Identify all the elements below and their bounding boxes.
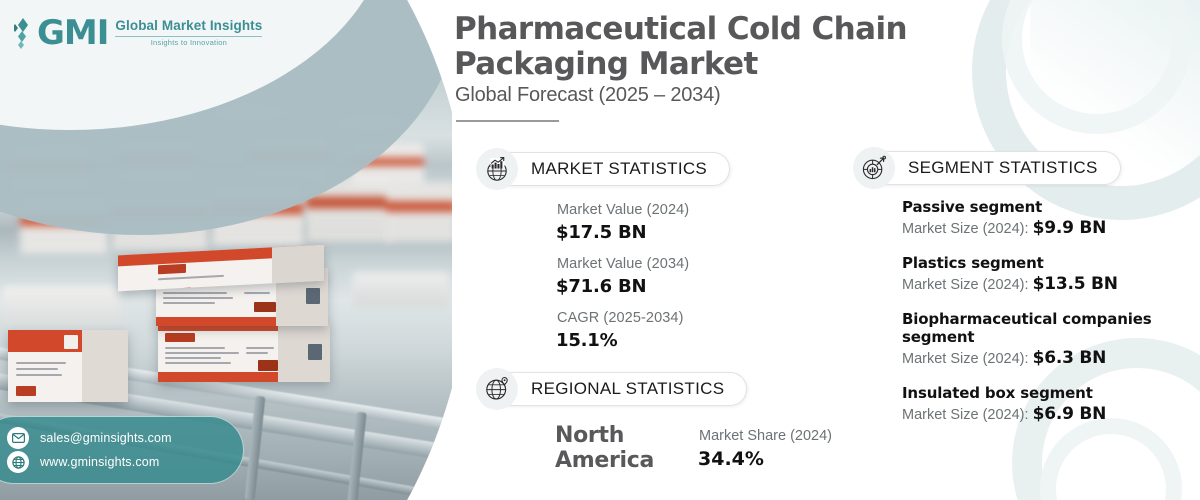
segment-size-row: Market Size (2024): $13.5 BN	[902, 274, 1200, 294]
globe-icon	[7, 451, 29, 473]
segment-size-prefix: Market Size (2024):	[902, 221, 1033, 237]
carton-text-line	[246, 352, 268, 354]
market-statistics-pill: MARKET STATISTICS	[504, 152, 730, 186]
page-subtitle: Global Forecast (2025 – 2034)	[455, 84, 720, 107]
logo-company-name: Global Market Insights	[115, 19, 262, 33]
carton-text-line	[158, 275, 224, 280]
market-value-2034-label: Market Value (2034)	[557, 256, 689, 272]
segment-statistics-pill: SEGMENT STATISTICS	[881, 151, 1121, 185]
segment-statistics-header: SEGMENT STATISTICS	[853, 147, 1121, 189]
carton-text-line	[165, 352, 239, 354]
carton-side-face	[278, 322, 330, 382]
globe-pin-icon	[476, 368, 518, 410]
carton-text-line	[165, 362, 231, 364]
logo-tagline: Insights to Innovation	[115, 39, 262, 47]
market-value-2034-value: $71.6 BN	[556, 276, 646, 297]
list-item: Biopharmaceutical companies segment Mark…	[902, 310, 1200, 369]
segment-size-row: Market Size (2024): $6.3 BN	[902, 348, 1200, 368]
segment-statistics-label: SEGMENT STATISTICS	[908, 158, 1098, 177]
carton-barcode	[306, 288, 320, 304]
foreground-carton-small	[8, 330, 128, 402]
carton-text-line	[16, 374, 62, 376]
logo-abbr: GMI	[37, 16, 108, 50]
carton-label-chip	[64, 335, 78, 349]
segment-size-prefix: Market Size (2024):	[902, 277, 1033, 293]
segment-size-value: $13.5 BN	[1033, 274, 1118, 294]
carton-barcode	[308, 344, 322, 360]
background-carton	[386, 182, 452, 242]
segment-size-prefix: Market Size (2024):	[902, 407, 1033, 423]
envelope-icon	[7, 427, 29, 449]
background-vials	[352, 272, 450, 308]
globe-bar-chart-icon	[476, 148, 518, 190]
page-title: Pharmaceutical Cold Chain Packaging Mark…	[454, 12, 1074, 81]
contact-badge: sales@gminsights.com www.gminsights.com	[0, 416, 244, 484]
leading-region-name: North America	[555, 424, 665, 473]
segment-size-row: Market Size (2024): $9.9 BN	[902, 218, 1200, 238]
background-vials	[2, 286, 120, 328]
carton-text-line	[163, 292, 227, 294]
carton-cold-badge	[254, 302, 276, 312]
segment-name: Biopharmaceutical companies segment	[902, 310, 1200, 348]
segment-list: Passive segment Market Size (2024): $9.9…	[902, 198, 1200, 424]
regional-statistics-header: REGIONAL STATISTICS	[476, 368, 747, 410]
cagr-value: 15.1%	[556, 330, 617, 351]
market-statistics-header: MARKET STATISTICS	[476, 148, 730, 190]
carton-text-line	[16, 368, 58, 370]
carton-side-face	[272, 245, 324, 284]
segment-size-value: $6.3 BN	[1033, 348, 1107, 368]
carton-text-line	[163, 297, 233, 299]
regional-statistics-label: REGIONAL STATISTICS	[531, 379, 724, 398]
logo-divider	[115, 36, 262, 37]
logo-wordmark: Global Market Insights Insights to Innov…	[115, 19, 262, 47]
segment-size-row: Market Size (2024): $6.9 BN	[902, 404, 1200, 424]
contact-website-row[interactable]: www.gminsights.com	[7, 450, 233, 474]
carton-text-line	[16, 362, 66, 364]
hero-image-panel: sales@gminsights.com www.gminsights.com	[0, 0, 452, 500]
carton-text-line	[246, 347, 274, 349]
carton-side-face	[82, 330, 128, 402]
market-share-value: 34.4%	[698, 448, 764, 470]
carton-text-line	[244, 292, 270, 294]
segment-size-value: $9.9 BN	[1033, 218, 1107, 238]
list-item: Passive segment Market Size (2024): $9.9…	[902, 198, 1200, 238]
gmi-diamond-logo-icon	[14, 16, 32, 50]
content-area: Pharmaceutical Cold Chain Packaging Mark…	[452, 0, 1200, 500]
infographic-root: sales@gminsights.com www.gminsights.com	[0, 0, 1200, 500]
donut-chart-arrow-icon	[853, 147, 895, 189]
contact-email-row[interactable]: sales@gminsights.com	[7, 426, 233, 450]
contact-website-text: www.gminsights.com	[40, 455, 159, 469]
segment-name: Plastics segment	[902, 254, 1200, 273]
market-share-label: Market Share (2024)	[699, 428, 832, 444]
market-value-2024-value: $17.5 BN	[556, 222, 646, 243]
carton-label-chip	[165, 333, 195, 342]
contact-email-text: sales@gminsights.com	[40, 431, 172, 445]
foreground-carton	[158, 322, 330, 382]
cagr-label: CAGR (2025-2034)	[557, 310, 684, 326]
regional-statistics-pill: REGIONAL STATISTICS	[504, 372, 747, 406]
list-item: Insulated box segment Market Size (2024)…	[902, 384, 1200, 424]
carton-text-line	[165, 347, 225, 349]
segment-size-prefix: Market Size (2024):	[902, 351, 1033, 367]
carton-text-line	[163, 302, 215, 304]
segment-name: Insulated box segment	[902, 384, 1200, 403]
market-value-2024-label: Market Value (2024)	[557, 202, 689, 218]
carton-cold-badge	[16, 386, 36, 396]
segment-name: Passive segment	[902, 198, 1200, 217]
title-divider	[456, 120, 559, 122]
list-item: Plastics segment Market Size (2024): $13…	[902, 254, 1200, 294]
carton-text-line	[165, 357, 221, 359]
brand-logo[interactable]: GMI Global Market Insights Insights to I…	[14, 16, 262, 50]
segment-size-value: $6.9 BN	[1033, 404, 1107, 424]
carton-cold-badge	[258, 360, 278, 371]
carton-label-chip	[158, 264, 186, 274]
market-statistics-label: MARKET STATISTICS	[531, 159, 707, 178]
